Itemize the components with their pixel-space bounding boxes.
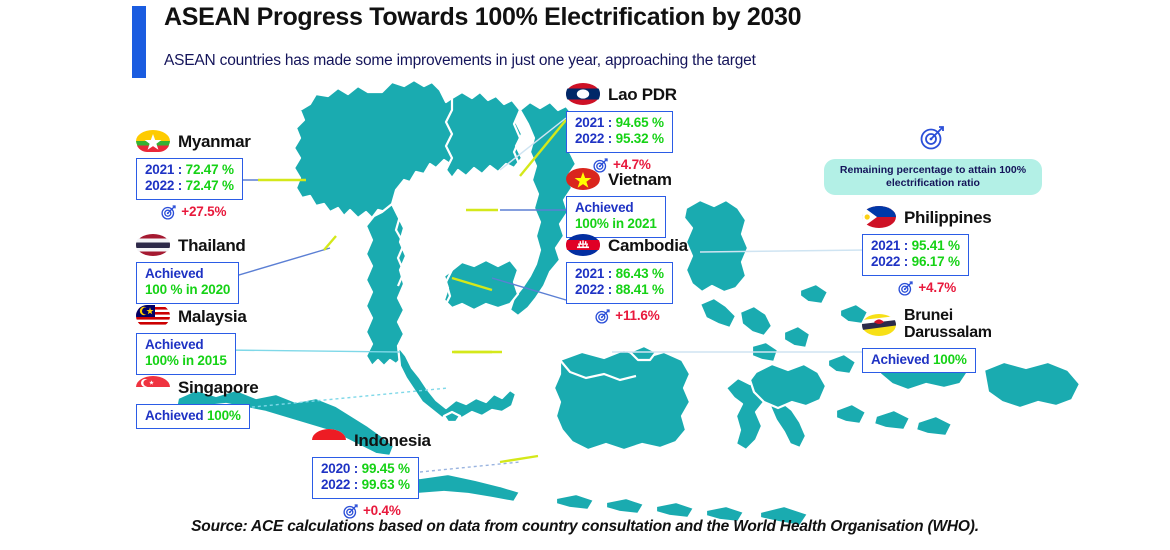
achieved-value: 100% in 2021 <box>575 216 657 232</box>
target-value: +0.4% <box>363 503 401 518</box>
card-header: Cambodia <box>566 232 688 258</box>
malaysia-flag <box>136 305 170 327</box>
target-icon <box>897 279 915 297</box>
country-name: Lao PDR <box>608 86 677 103</box>
card-header: Thailand <box>136 232 246 258</box>
target-value: +27.5% <box>181 204 226 219</box>
singapore-flag <box>136 376 170 398</box>
target-remaining: +11.6% <box>566 307 688 325</box>
card-header: Vietnam <box>566 166 672 192</box>
target-icon <box>160 203 178 221</box>
myanmar-flag <box>136 130 170 152</box>
data-box: Achieved 100 % in 2020 <box>136 262 239 304</box>
country-name: Thailand <box>178 237 246 254</box>
infographic-root: ASEAN Progress Towards 100% Electrificat… <box>0 0 1170 550</box>
data-box: 2021 : 94.65 % 2022 : 95.32 % <box>566 111 673 153</box>
country-name: Brunei Darussalam <box>904 308 992 342</box>
country-card-singapore[interactable]: Singapore Achieved 100% <box>136 374 258 429</box>
indonesia-flag <box>312 429 346 451</box>
data-box: 2021 : 95.41 % 2022 : 96.17 % <box>862 234 969 276</box>
vietnam-flag <box>566 168 600 190</box>
country-card-thailand[interactable]: Thailand Achieved 100 % in 2020 <box>136 232 246 304</box>
data-box: 2021 : 86.43 % 2022 : 88.41 % <box>566 262 673 304</box>
country-card-lao-pdr[interactable]: Lao PDR 2021 : 94.65 % 2022 : 95.32 % +4… <box>566 81 677 174</box>
target-value: +11.6% <box>615 308 659 323</box>
data-row: 2020 : 99.45 % <box>321 461 410 477</box>
target-icon <box>918 122 948 152</box>
philippines-flag <box>862 206 896 228</box>
achieved-value: 100 % in 2020 <box>145 282 230 298</box>
country-card-myanmar[interactable]: Myanmar 2021 : 72.47 % 2022 : 72.47 % +2… <box>136 128 251 221</box>
country-name: Singapore <box>178 379 258 396</box>
data-row: 2022 : 95.32 % <box>575 131 664 147</box>
data-box: 2020 : 99.45 % 2022 : 99.63 % <box>312 457 419 499</box>
country-card-indonesia[interactable]: Indonesia 2020 : 99.45 % 2022 : 99.63 % … <box>312 427 431 520</box>
card-header: Indonesia <box>312 427 431 453</box>
data-box: Achieved 100% <box>862 348 976 373</box>
country-card-philippines[interactable]: Philippines 2021 : 95.41 % 2022 : 96.17 … <box>862 204 991 297</box>
country-name: Malaysia <box>178 308 246 325</box>
card-header: Myanmar <box>136 128 251 154</box>
source-note: Source: ACE calculations based on data f… <box>0 518 1170 536</box>
data-box: Achieved 100% in 2015 <box>136 333 236 375</box>
card-header: Brunei Darussalam <box>862 306 992 344</box>
data-row: 2021 : 95.41 % <box>871 238 960 254</box>
data-box: Achieved 100% <box>136 404 250 429</box>
achieved-label: Achieved <box>145 337 227 353</box>
card-header: Philippines <box>862 204 991 230</box>
legend-text: Remaining percentage to attain 100% elec… <box>824 159 1042 195</box>
cambodia-flag <box>566 234 600 256</box>
data-row: 2022 : 88.41 % <box>575 282 664 298</box>
card-header: Malaysia <box>136 303 246 329</box>
data-box: 2021 : 72.47 % 2022 : 72.47 % <box>136 158 243 200</box>
target-remaining: +4.7% <box>862 279 991 297</box>
laos-flag <box>566 83 600 105</box>
data-row: 2021 : 86.43 % <box>575 266 664 282</box>
country-name: Vietnam <box>608 171 672 188</box>
achieved-value: 100% in 2015 <box>145 353 227 369</box>
page-title: ASEAN Progress Towards 100% Electrificat… <box>164 4 824 31</box>
legend: Remaining percentage to attain 100% elec… <box>824 122 1042 195</box>
target-remaining: +27.5% <box>136 203 251 221</box>
country-card-cambodia[interactable]: Cambodia 2021 : 86.43 % 2022 : 88.41 % +… <box>566 232 688 325</box>
country-name: Cambodia <box>608 237 688 254</box>
data-row: 2021 : 72.47 % <box>145 162 234 178</box>
brunei-flag <box>862 314 896 336</box>
country-card-vietnam[interactable]: Vietnam Achieved 100% in 2021 <box>566 166 672 238</box>
achieved-row: Achieved 100% <box>145 408 241 424</box>
achieved-label: Achieved <box>575 200 657 216</box>
target-icon <box>594 307 612 325</box>
country-name: Myanmar <box>178 133 251 150</box>
achieved-row: Achieved 100% <box>871 352 967 368</box>
country-name: Philippines <box>904 209 991 226</box>
data-row: 2022 : 72.47 % <box>145 178 234 194</box>
data-row: 2022 : 96.17 % <box>871 254 960 270</box>
data-row: 2022 : 99.63 % <box>321 477 410 493</box>
target-value: +4.7% <box>918 280 956 295</box>
connector-indonesia <box>420 462 520 472</box>
country-card-brunei[interactable]: Brunei Darussalam Achieved 100% <box>862 306 992 373</box>
thailand-flag <box>136 234 170 256</box>
card-header: Lao PDR <box>566 81 677 107</box>
card-header: Singapore <box>136 374 258 400</box>
achieved-label: Achieved <box>145 266 230 282</box>
country-card-malaysia[interactable]: Malaysia Achieved 100% in 2015 <box>136 303 246 375</box>
country-name: Indonesia <box>354 432 431 449</box>
data-row: 2021 : 94.65 % <box>575 115 664 131</box>
